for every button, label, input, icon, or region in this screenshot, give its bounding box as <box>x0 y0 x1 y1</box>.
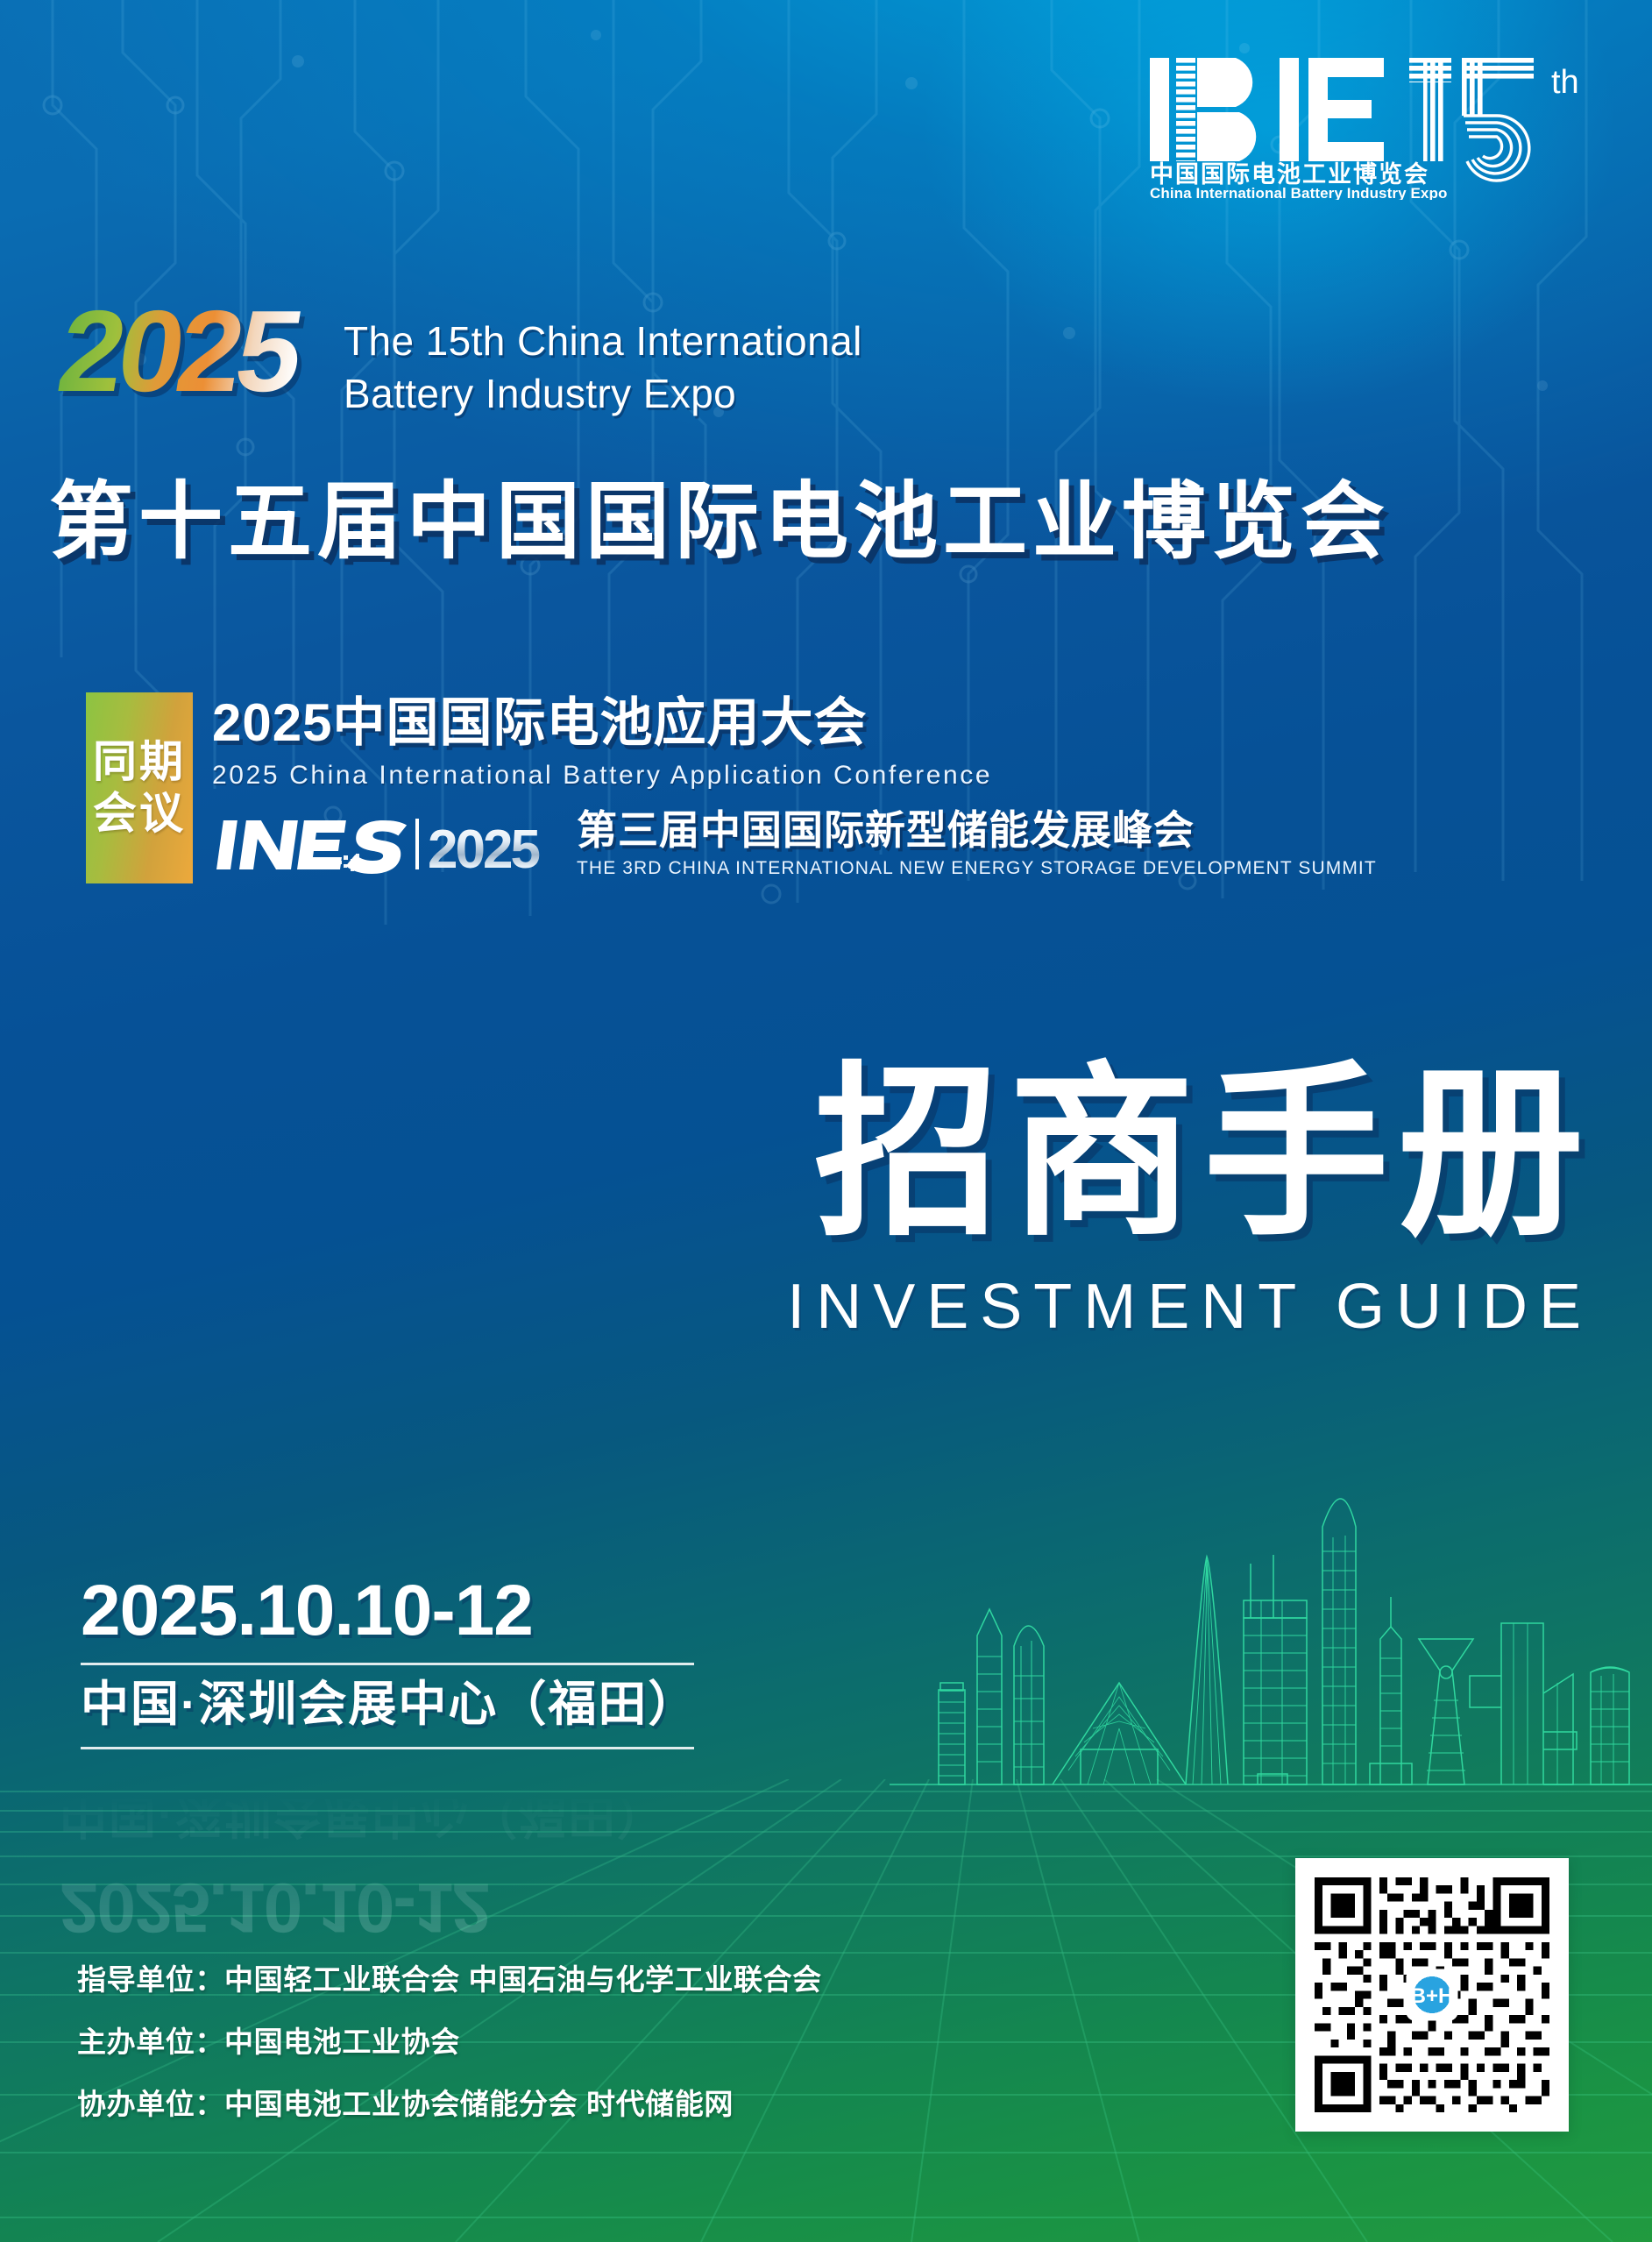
date-venue-reflection: 2025.10.10-12 中国·深圳会展中心（福田） <box>60 1785 848 1944</box>
reflection-venue: 中国·深圳会展中心（福田） <box>60 1785 848 1855</box>
battery-application-conference-cn: 2025中国国际电池应用大会 <box>212 697 1377 749</box>
event-venue: 中国·深圳会展中心（福田） <box>81 1678 694 1731</box>
shenzhen-skyline-illustration <box>890 1420 1652 1788</box>
concurrent-conference-block: 同期 会议 2025中国国际电池应用大会 2025 China Internat… <box>86 692 1377 883</box>
expo-chinese-title: 第十五届中国国际电池工业博览会 <box>49 480 1390 564</box>
ines-summit-cn: 第三届中国国际新型储能发展峰会 <box>577 810 1377 850</box>
svg-text:2025: 2025 <box>54 302 309 415</box>
ines-logo-year: 2025 <box>428 819 539 876</box>
concurrent-badge-line1: 同期 <box>93 736 186 788</box>
ines-logo: 2025 <box>212 813 563 876</box>
divider-top <box>81 1663 694 1665</box>
year-2025-graphic: 2025 2025 <box>54 302 352 415</box>
qr-code-graphic: B+H <box>1315 1877 1549 2112</box>
svg-text:th: th <box>1551 64 1579 101</box>
headline-english: INVESTMENT GUIDE <box>787 1271 1592 1343</box>
ibie-logo: th 中国国际电池工业博览会 China International Batte… <box>1146 42 1620 200</box>
poster-root: th 中国国际电池工业博览会 China International Batte… <box>0 0 1652 2242</box>
qr-center-logo-text: B+H <box>1411 1984 1454 2008</box>
organizer-line-co-organizer: 协办单位：中国电池工业协会储能分会 时代储能网 <box>77 2089 822 2118</box>
concurrent-badge-line2: 会议 <box>93 788 186 840</box>
organizer-line-guidance: 指导单位：中国轻工业联合会 中国石油与化学工业联合会 <box>77 1965 822 1994</box>
organizers-block: 指导单位：中国轻工业联合会 中国石油与化学工业联合会 主办单位：中国电池工业协会… <box>77 1965 822 2118</box>
event-date-venue-block: 2025.10.10-12 中国·深圳会展中心（福田） <box>81 1573 694 1749</box>
divider-bottom <box>81 1747 694 1749</box>
headline-chinese: 招商手册 <box>787 1061 1592 1246</box>
ibie-logo-en: China International Battery Industry Exp… <box>1150 185 1447 200</box>
ibie-logo-cn: 中国国际电池工业博览会 <box>1150 160 1429 188</box>
battery-application-conference-en: 2025 China International Battery Applica… <box>212 761 1377 791</box>
event-date: 2025.10.10-12 <box>81 1573 694 1649</box>
organizer-line-host: 主办单位：中国电池工业协会 <box>77 2027 822 2056</box>
qr-code[interactable]: B+H <box>1295 1858 1569 2132</box>
expo-english-title: The 15th China International Battery Ind… <box>344 316 862 421</box>
reflection-date: 2025.10.10-12 <box>60 1872 848 1944</box>
headline-block: 招商手册 INVESTMENT GUIDE <box>787 1061 1592 1343</box>
concurrent-badge: 同期 会议 <box>86 692 193 883</box>
ines-summit-row: 2025 第三届中国国际新型储能发展峰会 THE 3RD CHINA INTER… <box>212 810 1377 879</box>
ines-summit-en: THE 3RD CHINA INTERNATIONAL NEW ENERGY S… <box>577 858 1377 879</box>
